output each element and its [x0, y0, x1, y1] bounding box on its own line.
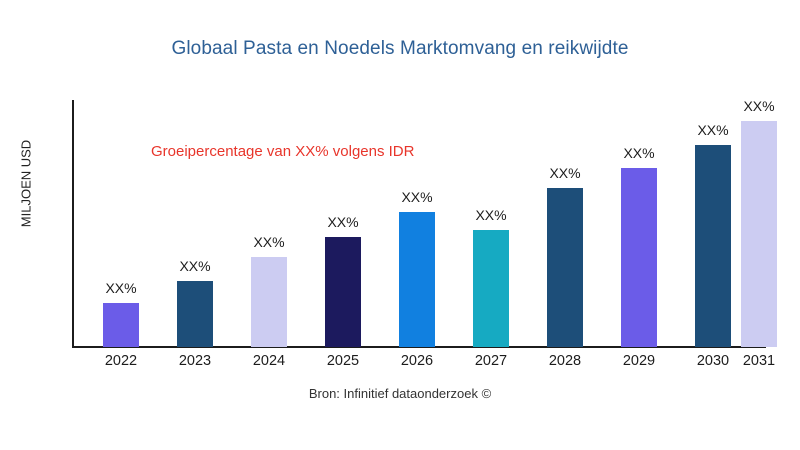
bar-value-label-2031: XX% [727, 98, 791, 114]
bar-2025[interactable] [325, 237, 361, 347]
bar-value-label-2028: XX% [533, 165, 597, 181]
bar-2028[interactable] [547, 188, 583, 347]
x-tick-2027: 2027 [455, 353, 527, 369]
x-tick-2022: 2022 [85, 353, 157, 369]
bar-2027[interactable] [473, 230, 509, 347]
bar-2031[interactable] [741, 121, 777, 347]
bar-2026[interactable] [399, 212, 435, 347]
chart-container: Globaal Pasta en Noedels Marktomvang en … [0, 0, 800, 450]
x-tick-2025: 2025 [307, 353, 379, 369]
x-tick-2031: 2031 [723, 353, 795, 369]
x-tick-2024: 2024 [233, 353, 305, 369]
bar-value-label-2023: XX% [163, 258, 227, 274]
bar-value-label-2030: XX% [681, 122, 745, 138]
bar-2030[interactable] [695, 145, 731, 347]
x-tick-2028: 2028 [529, 353, 601, 369]
bar-value-label-2029: XX% [607, 145, 671, 161]
bar-value-label-2024: XX% [237, 234, 301, 250]
x-tick-2029: 2029 [603, 353, 675, 369]
bar-value-label-2026: XX% [385, 189, 449, 205]
bar-2029[interactable] [621, 168, 657, 347]
bar-2023[interactable] [177, 281, 213, 347]
bar-2024[interactable] [251, 257, 287, 347]
bar-2022[interactable] [103, 303, 139, 347]
source-note: Bron: Infinitief dataonderzoek © [0, 386, 800, 401]
bar-value-label-2027: XX% [459, 207, 523, 223]
bar-value-label-2025: XX% [311, 214, 375, 230]
plot-area: XX%2022XX%2023XX%2024XX%2025XX%2026XX%20… [0, 0, 800, 450]
x-tick-2026: 2026 [381, 353, 453, 369]
x-tick-2023: 2023 [159, 353, 231, 369]
bar-value-label-2022: XX% [89, 280, 153, 296]
